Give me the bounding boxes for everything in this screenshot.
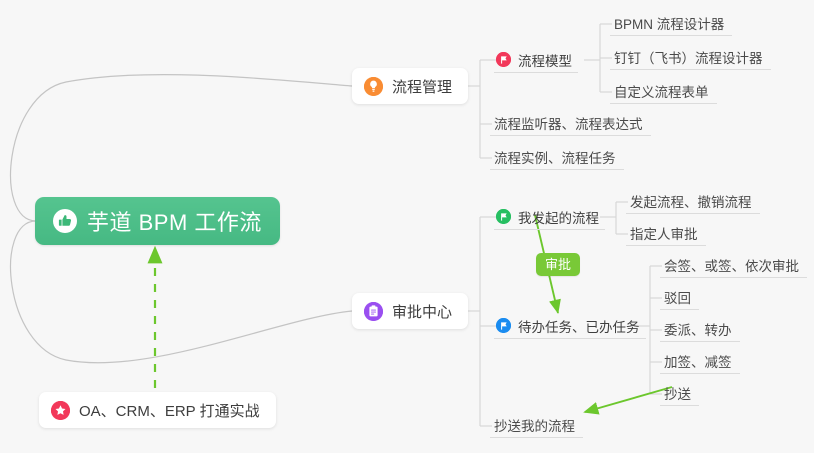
leaf-start-cancel-process[interactable]: 发起流程、撤销流程 (626, 189, 760, 214)
topic-label: 流程模型 (518, 50, 572, 70)
leaf-label: 流程实例、流程任务 (494, 147, 616, 167)
topic-my-initiated[interactable]: 我发起的流程 (494, 204, 605, 230)
root-node[interactable]: 芋道 BPM 工作流 (35, 197, 280, 245)
leaf-countersign[interactable]: 会签、或签、依次审批 (660, 253, 807, 278)
leaf-label: 驳回 (664, 287, 691, 307)
leaf-label: 抄送 (664, 383, 691, 403)
mindmap-canvas: 芋道 BPM 工作流 流程管理 流程模型 BPMN 流程设计器 钉钉（飞书）流程… (0, 0, 814, 453)
topic-todo-done-tasks[interactable]: 待办任务、已办任务 (494, 313, 646, 339)
lightbulb-icon (364, 77, 383, 96)
leaf-label: 钉钉（飞书）流程设计器 (614, 47, 763, 67)
leaf-label: BPMN 流程设计器 (614, 13, 724, 33)
leaf-assignee-approval[interactable]: 指定人审批 (626, 221, 706, 246)
leaf-add-remove-sign[interactable]: 加签、减签 (660, 349, 740, 374)
branch-label: 审批中心 (392, 301, 452, 322)
clipboard-icon (364, 302, 383, 321)
branch-label: 流程管理 (392, 76, 452, 97)
leaf-label: 指定人审批 (630, 223, 698, 243)
thumbs-up-icon (53, 209, 77, 233)
topic-label: 待办任务、已办任务 (518, 316, 640, 336)
leaf-delegate-transfer[interactable]: 委派、转办 (660, 317, 740, 342)
flag-red-icon (496, 52, 511, 67)
leaf-dingtalk-designer[interactable]: 钉钉（飞书）流程设计器 (610, 45, 771, 70)
annotation-arrow-cc (585, 387, 672, 412)
leaf-bpmn-designer[interactable]: BPMN 流程设计器 (610, 11, 732, 36)
leaf-cc[interactable]: 抄送 (660, 381, 699, 406)
topic-process-model[interactable]: 流程模型 (494, 47, 578, 73)
leaf-label: 自定义流程表单 (614, 81, 709, 101)
flag-blue-icon (496, 318, 511, 333)
leaf-process-listener[interactable]: 流程监听器、流程表达式 (490, 111, 651, 136)
topic-label: 我发起的流程 (518, 207, 599, 227)
leaf-process-instance[interactable]: 流程实例、流程任务 (490, 145, 624, 170)
flag-green-icon (496, 209, 511, 224)
annotation-badge-approval: 审批 (536, 253, 580, 276)
leaf-reject[interactable]: 驳回 (660, 285, 699, 310)
star-icon (51, 401, 70, 420)
footer-card-label: OA、CRM、ERP 打通实战 (79, 400, 260, 421)
leaf-label: 抄送我的流程 (494, 415, 575, 435)
leaf-label: 流程监听器、流程表达式 (494, 113, 643, 133)
root-label: 芋道 BPM 工作流 (87, 205, 262, 237)
leaf-label: 发起流程、撤销流程 (630, 191, 752, 211)
leaf-label: 加签、减签 (664, 351, 732, 371)
leaf-custom-form[interactable]: 自定义流程表单 (610, 79, 717, 104)
leaf-label: 委派、转办 (664, 319, 732, 339)
leaf-label: 会签、或签、依次审批 (664, 255, 799, 275)
branch-process-management[interactable]: 流程管理 (352, 68, 468, 104)
leaf-cc-to-me[interactable]: 抄送我的流程 (490, 413, 583, 438)
footer-card-oa-crm-erp[interactable]: OA、CRM、ERP 打通实战 (39, 392, 276, 428)
branch-approval-center[interactable]: 审批中心 (352, 293, 468, 329)
